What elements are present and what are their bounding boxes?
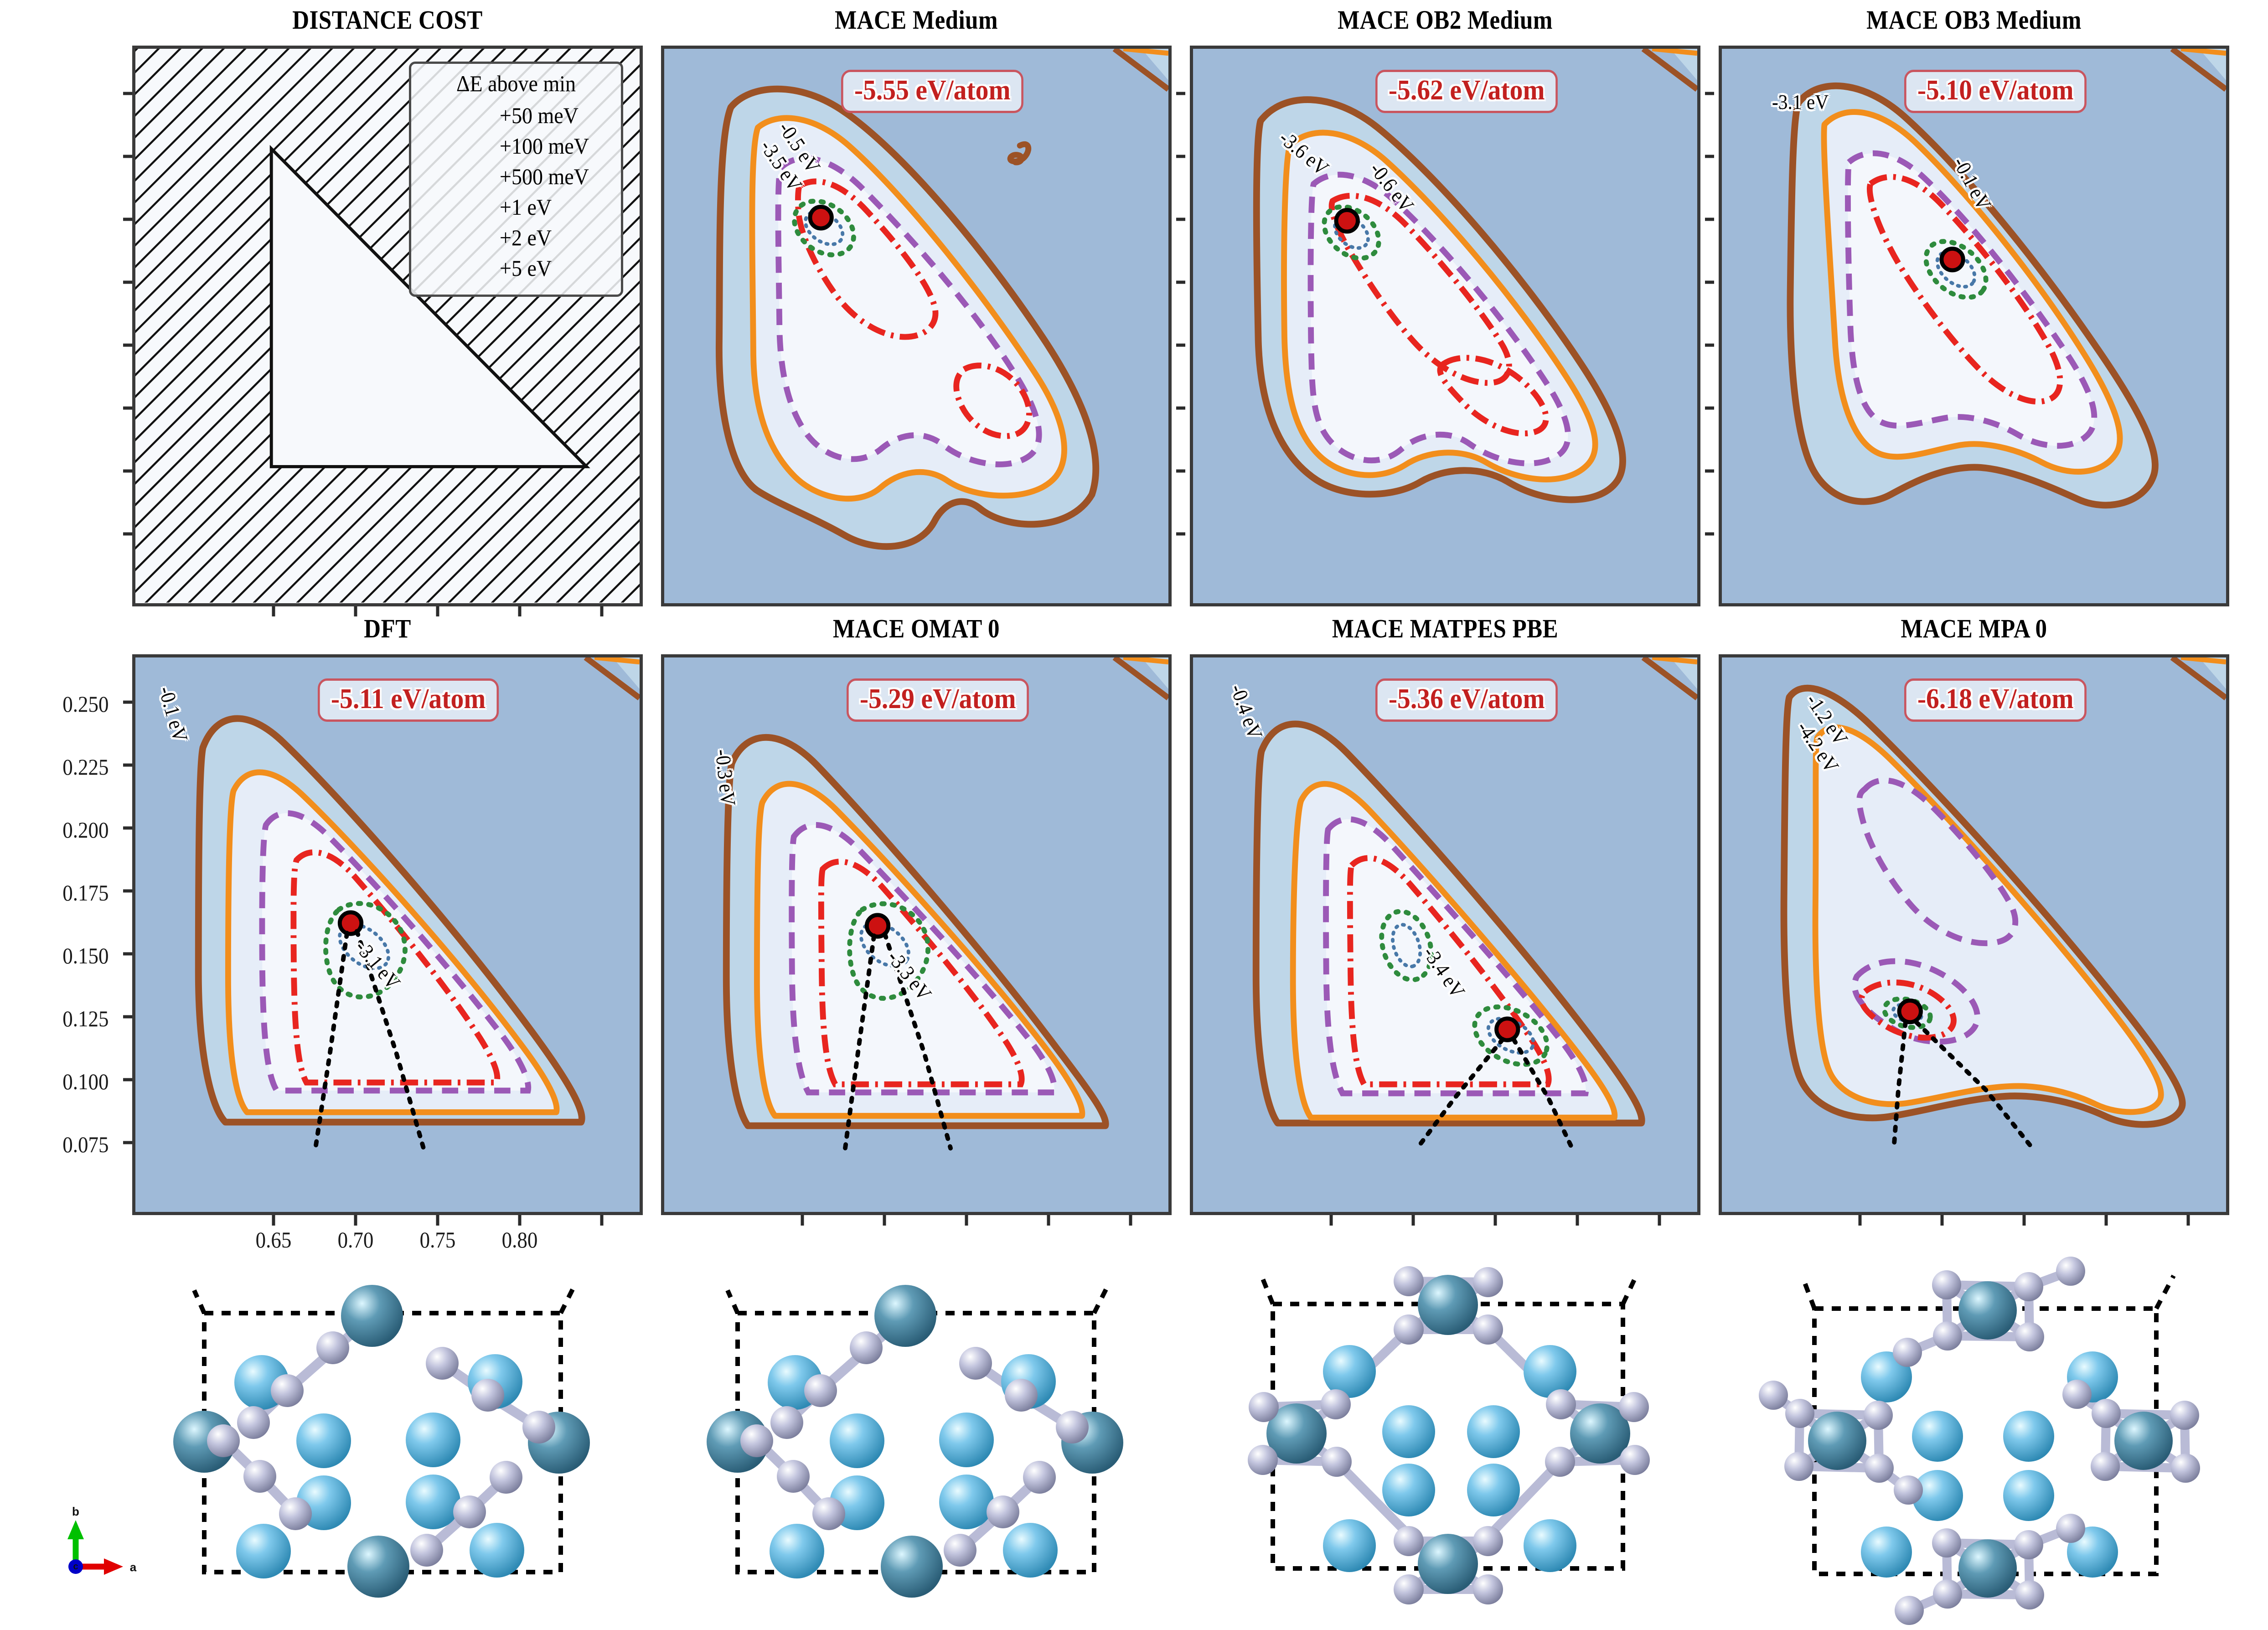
atoms: [1759, 1257, 2200, 1625]
mace-medium-contour-plot: [664, 49, 1168, 603]
minimum-marker[interactable]: [1899, 1000, 1921, 1022]
ytick-label-0: 0.250: [15, 691, 109, 717]
panel-mace-medium[interactable]: -0.5 eV -3.5 eV -5.55 eV/atom: [661, 46, 1172, 606]
energy-badge-mace-mpa: -6.18 eV/atom: [1904, 678, 2087, 722]
legend-label-100mev: +100 meV: [500, 133, 589, 159]
contour-label-3-1ev: -3.1 eV: [1772, 90, 1829, 114]
panel-mace-ob3-medium[interactable]: -3.1 eV -0.1 eV -5.10 eV/atom: [1719, 46, 2229, 606]
mace-mpa-contour-plot: [1722, 657, 2226, 1211]
legend-label-2ev: +2 eV: [500, 224, 552, 251]
panel-title-mace-mpa-0: MACE MPA 0: [1749, 613, 2199, 644]
mace-ob2-contour-plot: [1193, 49, 1697, 603]
minimum-marker[interactable]: [1942, 248, 1963, 270]
mace-ob3-contour-plot: [1722, 49, 2226, 603]
energy-badge-mace-medium: -5.55 eV/atom: [841, 70, 1023, 113]
mace-omat-contour-plot: [664, 657, 1168, 1211]
mace-matpes-contour-plot: [1193, 657, 1697, 1211]
ytick-label-6: 0.100: [15, 1068, 109, 1095]
ytick-label-1: 0.225: [15, 754, 109, 780]
panel-title-mace-ob3-medium: MACE OB3 Medium: [1749, 5, 2199, 35]
axis-label-b: b: [72, 1505, 79, 1518]
minimum-marker[interactable]: [1336, 210, 1358, 232]
bonds: [757, 1316, 1072, 1550]
structure-mace-mpa-0[interactable]: [1746, 1249, 2238, 1628]
ytick-label-3: 0.175: [15, 880, 109, 906]
panel-title-mace-ob2-medium: MACE OB2 Medium: [1220, 5, 1670, 35]
structure-mace-omat-0[interactable]: [684, 1258, 1176, 1623]
xtick-label-3: 0.80: [483, 1226, 557, 1253]
panel-title-mace-omat-0: MACE OMAT 0: [692, 613, 1141, 644]
panel-title-mace-medium: MACE Medium: [692, 5, 1141, 35]
legend-row-2ev: +2 eV: [422, 224, 610, 251]
panel-mace-omat-0[interactable]: -0.3 eV -3.3 eV -5.29 eV/atom: [661, 654, 1172, 1215]
atoms: [707, 1285, 1123, 1598]
ytick-label-7: 0.075: [15, 1131, 109, 1158]
panel-distance-cost[interactable]: ΔE above min +50 meV +100 meV +500 meV +…: [132, 46, 643, 606]
crystal-axis-indicator: c b a: [46, 1505, 150, 1609]
legend-title: ΔE above min: [429, 70, 602, 97]
contour-legend: ΔE above min +50 meV +100 meV +500 meV +…: [409, 62, 623, 297]
legend-label-50mev: +50 meV: [500, 102, 579, 129]
ytick-label-5: 0.125: [15, 1005, 109, 1032]
energy-badge-dft: -5.11 eV/atom: [318, 678, 499, 722]
panel-title-dft: DFT: [163, 613, 612, 644]
energy-badge-mace-omat: -5.29 eV/atom: [847, 678, 1029, 722]
axis-label-a: a: [130, 1560, 137, 1574]
panel-mace-matpes-pbe[interactable]: -0.4 eV -3.4 eV -5.36 eV/atom: [1190, 654, 1700, 1215]
structure-dft[interactable]: [150, 1258, 643, 1623]
xtick-label-0: 0.65: [237, 1226, 310, 1253]
atoms: [1248, 1266, 1650, 1604]
legend-row-500mev: +500 meV: [422, 163, 610, 190]
energy-badge-mace-ob3: -5.10 eV/atom: [1904, 70, 2087, 113]
legend-label-1ev: +1 eV: [500, 194, 552, 220]
panel-title-distance-cost: DISTANCE COST: [163, 5, 612, 35]
panel-mace-mpa-0[interactable]: -1.2 eV -4.2 eV -6.18 eV/atom: [1719, 654, 2229, 1215]
legend-row-50mev: +50 meV: [422, 102, 610, 129]
legend-label-5ev: +5 eV: [500, 255, 552, 281]
legend-label-500mev: +500 meV: [500, 163, 589, 190]
ytick-label-4: 0.150: [15, 942, 109, 969]
xtick-label-2: 0.75: [401, 1226, 475, 1253]
panel-dft[interactable]: -0.1 eV -3.1 eV -5.11 eV/atom: [132, 654, 643, 1215]
atoms: [173, 1285, 590, 1598]
energy-badge-mace-matpes: -5.36 eV/atom: [1375, 678, 1558, 722]
axis-label-c: c: [73, 1562, 78, 1572]
legend-row-5ev: +5 eV: [422, 255, 610, 281]
minimum-marker[interactable]: [810, 207, 832, 228]
minimum-marker[interactable]: [1497, 1019, 1518, 1040]
dft-contour-plot: [135, 657, 640, 1211]
legend-row-100mev: +100 meV: [422, 133, 610, 159]
xtick-label-1: 0.70: [319, 1226, 393, 1253]
panel-mace-ob2-medium[interactable]: -3.6 eV -0.6 eV -5.62 eV/atom: [1190, 46, 1700, 606]
panel-title-mace-matpes-pbe: MACE MATPES PBE: [1220, 613, 1670, 644]
structure-mace-matpes-pbe[interactable]: [1213, 1249, 1705, 1623]
bonds: [223, 1316, 539, 1550]
energy-badge-mace-ob2: -5.62 eV/atom: [1375, 70, 1558, 113]
ytick-label-2: 0.200: [15, 817, 109, 843]
legend-row-1ev: +1 eV: [422, 194, 610, 220]
